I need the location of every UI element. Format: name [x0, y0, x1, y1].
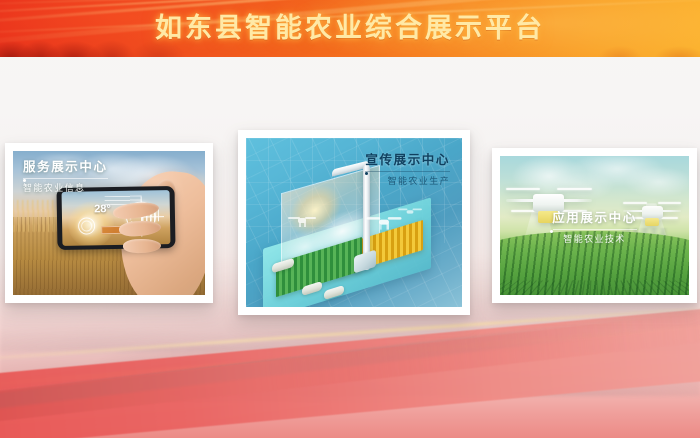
- drone-rotor: [506, 188, 540, 190]
- drone-icon: [623, 195, 681, 227]
- drone-rotor: [388, 218, 402, 221]
- card-image-frame: 应用展示中心 智能农业技术: [500, 156, 689, 295]
- card-image-frame: 28° 服务展示中心 智能农业信息: [13, 151, 205, 295]
- drone-icon: [289, 216, 315, 225]
- drone-rotor: [557, 188, 591, 190]
- drone-leg: [380, 224, 382, 230]
- drone-icon: [399, 208, 421, 216]
- phone-screen: 28°: [62, 190, 171, 246]
- card-application-display-center[interactable]: 应用展示中心 智能农业技术: [492, 148, 697, 303]
- drone-leg: [299, 222, 301, 227]
- drone-spray-tank: [645, 218, 659, 226]
- hud-temperature-value: 28°: [94, 203, 111, 215]
- drone-spray-tank: [538, 211, 559, 223]
- drone-body: [407, 210, 414, 214]
- drone-rotor: [412, 209, 422, 211]
- card-image-frame: 宣传展示中心 智能农业生产: [246, 138, 462, 307]
- drone-body: [533, 194, 564, 212]
- drone-leg: [304, 222, 306, 227]
- page-title: 如东县智能农业综合展示平台: [0, 9, 700, 47]
- drone-body: [642, 206, 663, 219]
- drone-rotor: [658, 202, 681, 204]
- card-service-display-center[interactable]: 28° 服务展示中心 智能农业信息: [5, 143, 213, 303]
- header-banner: 如东县智能农业综合展示平台: [0, 0, 700, 57]
- drone-icon: [368, 216, 401, 227]
- drone-rotor: [305, 217, 316, 219]
- card-publicity-display-center[interactable]: 宣传展示中心 智能农业生产: [238, 130, 470, 315]
- drone-rotor: [623, 202, 646, 204]
- app-root: 如东县智能农业综合展示平台 28°: [0, 0, 700, 438]
- drone-leg: [387, 224, 389, 230]
- smartphone-device: 28°: [57, 186, 176, 250]
- drone-icon: [506, 178, 592, 224]
